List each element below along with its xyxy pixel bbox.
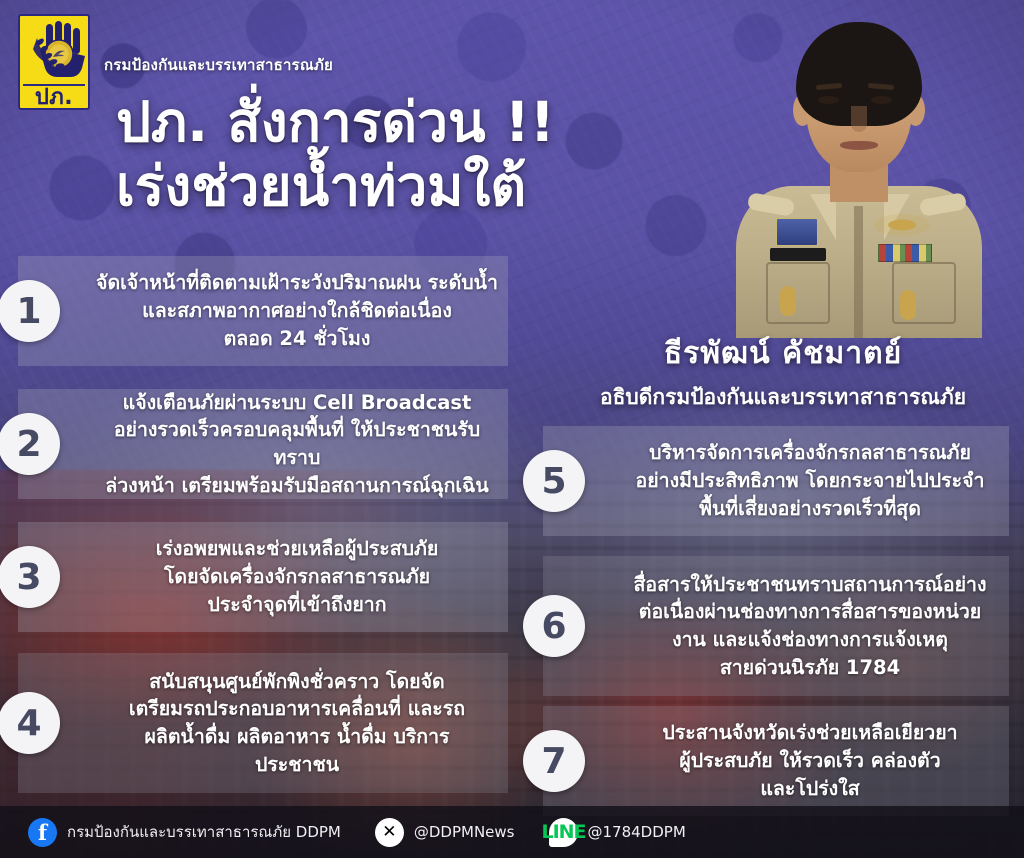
official-portrait	[694, 8, 1024, 368]
official-name-block: ธีรพัฒน์ คัชมาตย์ อธิบดีกรมป้องกันและบรร…	[548, 330, 1018, 414]
organization-name: กรมป้องกันและบรรเทาสาธารณภัย	[104, 53, 333, 77]
ddpm-logo-icon: ปภ.	[18, 14, 90, 110]
portrait-ribbon-bar	[878, 244, 932, 262]
portrait-eye-right	[871, 96, 892, 104]
portrait-wing-insignia	[874, 214, 930, 236]
directive-item-1: 1 จัดเจ้าหน้าที่ติดตามเฝ้าระวังปริมาณฝน …	[18, 256, 508, 366]
line-icon-wordmark: LINE	[533, 821, 595, 843]
portrait-aiguillette-left	[780, 286, 796, 316]
portrait-figure	[724, 8, 994, 338]
facebook-account[interactable]: f กรมป้องกันและบรรเทาสาธารณภัย DDPM	[28, 818, 341, 847]
item-number-badge: 6	[523, 595, 585, 657]
item-number-badge: 1	[0, 280, 60, 342]
ddpm-logo-emblem	[20, 16, 88, 84]
item-text: สื่อสารให้ประชาชนทราบสถานการณ์อย่าง ต่อเ…	[621, 571, 999, 682]
infographic-poster: ปภ. กรมป้องกันและบรรเทาสาธารณภัย ปภ. สั่…	[0, 0, 1024, 858]
item-number-badge: 3	[0, 546, 60, 608]
x-account[interactable]: ✕ @DDPMNews	[375, 818, 515, 847]
x-label: @DDPMNews	[414, 823, 515, 841]
item-number-badge: 5	[523, 450, 585, 512]
item-number-badge: 4	[0, 692, 60, 754]
x-twitter-icon[interactable]: ✕	[375, 818, 404, 847]
facebook-icon[interactable]: f	[28, 818, 57, 847]
directive-item-2: 2 แจ้งเตือนภัยผ่านระบบ Cell Broadcast อย…	[18, 389, 508, 499]
page-title: ปภ. สั่งการด่วน !! เร่งช่วยน้ำท่วมใต้	[116, 94, 555, 214]
portrait-aiguillette-right	[900, 290, 916, 320]
title-line-2: เร่งช่วยน้ำท่วมใต้	[116, 158, 555, 214]
portrait-shirt-placket	[854, 206, 863, 338]
portrait-nametag	[770, 248, 826, 261]
directive-item-3: 3 เร่งอพยพและช่วยเหลือผู้ประสบภัย โดยจัด…	[18, 522, 508, 632]
portrait-badge	[776, 218, 818, 246]
directive-item-4: 4 สนับสนุนศูนย์พักพิงชั่วคราว โดยจัด เตร…	[18, 653, 508, 793]
item-text: จัดเจ้าหน้าที่ติดตามเฝ้าระวังปริมาณฝน ระ…	[96, 269, 498, 352]
item-text: บริหารจัดการเครื่องจักรกลสาธารณภัย อย่าง…	[621, 439, 999, 522]
portrait-pocket-left	[766, 262, 830, 324]
portrait-mouth	[840, 141, 878, 150]
directive-item-5: 5 บริหารจัดการเครื่องจักรกลสาธารณภัย อย่…	[543, 426, 1009, 536]
directive-item-7: 7 ประสานจังหวัดเร่งช่วยเหลือเยียวยา ผู้ป…	[543, 706, 1009, 816]
item-text: แจ้งเตือนภัยผ่านระบบ Cell Broadcast อย่า…	[96, 389, 498, 500]
line-account[interactable]: LINE @1784DDPM	[549, 818, 686, 847]
facebook-label: กรมป้องกันและบรรเทาสาธารณภัย DDPM	[67, 820, 341, 844]
item-number-badge: 2	[0, 413, 60, 475]
item-number-badge: 7	[523, 730, 585, 792]
official-name: ธีรพัฒน์ คัชมาตย์	[548, 330, 1018, 377]
line-icon[interactable]: LINE	[549, 818, 578, 847]
portrait-eye-left	[818, 96, 839, 104]
item-text: สนับสนุนศูนย์พักพิงชั่วคราว โดยจัด เตรีย…	[96, 668, 498, 779]
portrait-nose	[851, 106, 867, 132]
line-label: @1784DDPM	[588, 823, 686, 841]
directive-item-6: 6 สื่อสารให้ประชาชนทราบสถานการณ์อย่าง ต่…	[543, 556, 1009, 696]
item-text: เร่งอพยพและช่วยเหลือผู้ประสบภัย โดยจัดเค…	[96, 535, 498, 618]
item-text: ประสานจังหวัดเร่งช่วยเหลือเยียวยา ผู้ประ…	[621, 719, 999, 802]
official-role: อธิบดีกรมป้องกันและบรรเทาสาธารณภัย	[548, 381, 1018, 414]
logo-abbreviation: ปภ.	[20, 84, 88, 108]
social-footer: f กรมป้องกันและบรรเทาสาธารณภัย DDPM ✕ @D…	[0, 806, 1024, 858]
title-line-1: ปภ. สั่งการด่วน !!	[116, 94, 555, 150]
